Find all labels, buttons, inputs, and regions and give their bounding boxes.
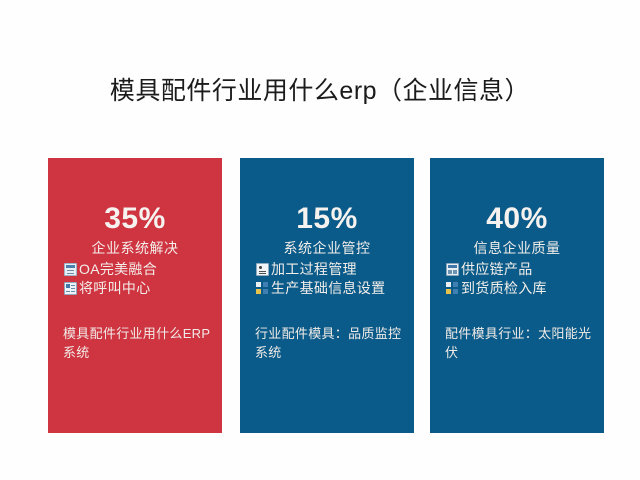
- list-item[interactable]: OA完美融合: [64, 260, 222, 279]
- cards-row: 35% 企业系统解决 OA完美融合 将呼叫中心 模具配件行业用什么ERP系统: [48, 158, 594, 433]
- bullet-list: 供应链产品 到货质检入库: [446, 260, 604, 298]
- card-content: 40% 信息企业质量 供应链产品 到货质检入库 配件模具行业：太阳能光伏: [430, 158, 604, 433]
- card-description: 行业配件模具：品质监控系统: [255, 324, 405, 362]
- percent-value: 35%: [48, 202, 222, 236]
- card-content: 35% 企业系统解决 OA完美融合 将呼叫中心 模具配件行业用什么ERP系统: [48, 158, 222, 433]
- grid-icon: [446, 282, 459, 295]
- stat-card-blue-2[interactable]: 40% 信息企业质量 供应链产品 到货质检入库 配件模具行业：太阳能光伏: [430, 158, 604, 433]
- bullet-label: 加工过程管理: [271, 260, 357, 279]
- bullet-list: 加工过程管理 生产基础信息设置: [256, 260, 414, 298]
- card-headline: 企业系统解决: [48, 238, 222, 258]
- card-description: 模具配件行业用什么ERP系统: [63, 324, 213, 362]
- bullet-label: 生产基础信息设置: [271, 279, 385, 298]
- list-item[interactable]: 到货质检入库: [446, 279, 604, 298]
- form-icon: [64, 263, 77, 276]
- card-description: 配件模具行业：太阳能光伏: [445, 324, 595, 362]
- bullet-label: OA完美融合: [79, 260, 157, 279]
- bullet-list: OA完美融合 将呼叫中心: [64, 260, 222, 298]
- list-item[interactable]: 将呼叫中心: [64, 279, 222, 298]
- list-item[interactable]: 加工过程管理: [256, 260, 414, 279]
- card-headline: 系统企业管控: [240, 238, 414, 258]
- list-item[interactable]: 供应链产品: [446, 260, 604, 279]
- page-title: 模具配件行业用什么erp（企业信息）: [0, 74, 640, 108]
- grid-icon: [256, 282, 269, 295]
- bullet-label: 将呼叫中心: [79, 279, 151, 298]
- stat-card-red[interactable]: 35% 企业系统解决 OA完美融合 将呼叫中心 模具配件行业用什么ERP系统: [48, 158, 222, 433]
- percent-value: 15%: [240, 202, 414, 236]
- percent-value: 40%: [430, 202, 604, 236]
- slide-canvas: 模具配件行业用什么erp（企业信息） 35% 企业系统解决 OA完美融合 将呼叫…: [0, 0, 640, 480]
- list-item[interactable]: 生产基础信息设置: [256, 279, 414, 298]
- bullet-label: 到货质检入库: [461, 279, 547, 298]
- card-content: 15% 系统企业管控 加工过程管理 生产基础信息设置 行业配件模具：品质监控系统: [240, 158, 414, 433]
- bullet-label: 供应链产品: [461, 260, 533, 279]
- chain-icon: [446, 263, 459, 276]
- card-icon: [64, 282, 77, 295]
- stat-card-blue-1[interactable]: 15% 系统企业管控 加工过程管理 生产基础信息设置 行业配件模具：品质监控系统: [240, 158, 414, 433]
- document-icon: [256, 263, 269, 276]
- card-headline: 信息企业质量: [430, 238, 604, 258]
